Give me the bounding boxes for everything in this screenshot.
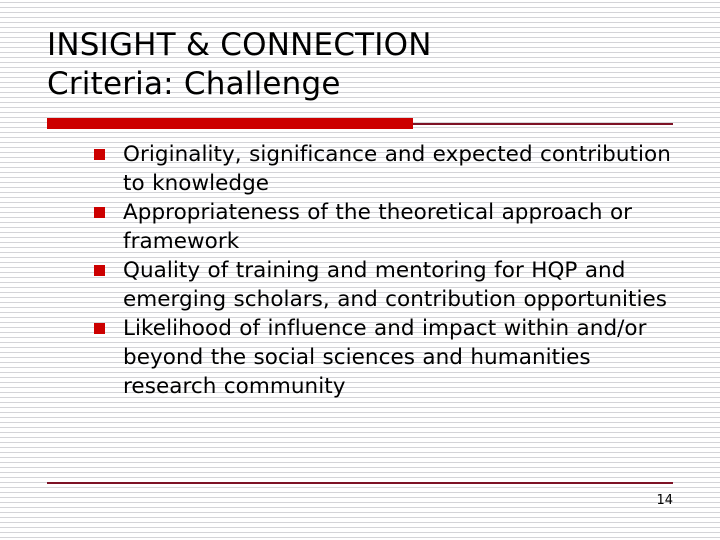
list-item-label: Originality, significance and expected c…	[123, 140, 688, 198]
criteria-bullet-list: Originality, significance and expected c…	[88, 140, 688, 401]
list-item-label: Quality of training and mentoring for HQ…	[123, 256, 688, 314]
list-item-label: Appropriateness of the theoretical appro…	[123, 198, 688, 256]
red-square-bullet-icon	[94, 323, 105, 334]
list-item: Originality, significance and expected c…	[88, 140, 688, 198]
red-square-bullet-icon	[94, 149, 105, 160]
red-square-bullet-icon	[94, 207, 105, 218]
page-number: 14	[656, 493, 673, 509]
footer-divider-line	[47, 482, 673, 484]
title-divider-thick-bar	[47, 118, 413, 129]
list-item-label: Likelihood of influence and impact withi…	[123, 314, 688, 401]
slide-title: INSIGHT & CONNECTION Criteria: Challenge	[47, 26, 687, 104]
page-title-line-2: Criteria: Challenge	[47, 65, 687, 104]
list-item: Quality of training and mentoring for HQ…	[88, 256, 688, 314]
list-item: Likelihood of influence and impact withi…	[88, 314, 688, 401]
slide-canvas: INSIGHT & CONNECTION Criteria: Challenge…	[0, 0, 720, 540]
page-title-line-1: INSIGHT & CONNECTION	[47, 26, 687, 65]
list-item: Appropriateness of the theoretical appro…	[88, 198, 688, 256]
red-square-bullet-icon	[94, 265, 105, 276]
